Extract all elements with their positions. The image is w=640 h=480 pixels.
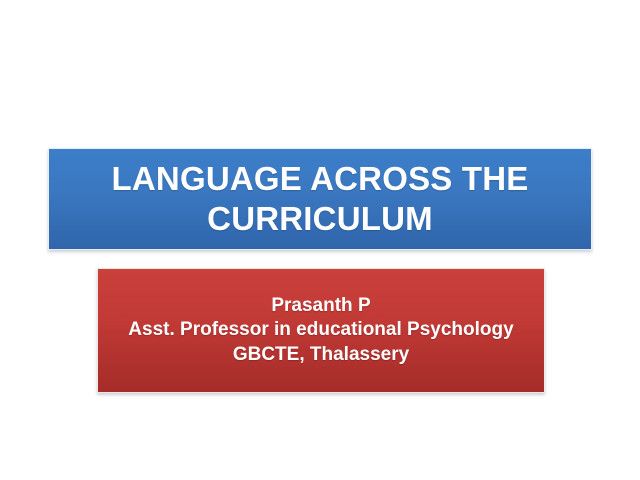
title-text-box[interactable]: LANGUAGE ACROSS THE CURRICULUM	[48, 148, 592, 250]
subtitle-text-box[interactable]: Prasanth P Asst. Professor in educationa…	[97, 268, 545, 393]
presenter-name: Prasanth P	[271, 295, 370, 317]
presenter-designation: Asst. Professor in educational Psycholog…	[128, 319, 513, 341]
slide-title: LANGUAGE ACROSS THE CURRICULUM	[49, 159, 591, 240]
presentation-slide: LANGUAGE ACROSS THE CURRICULUM Prasanth …	[0, 0, 640, 480]
presenter-institution: GBCTE, Thalassery	[233, 344, 409, 366]
